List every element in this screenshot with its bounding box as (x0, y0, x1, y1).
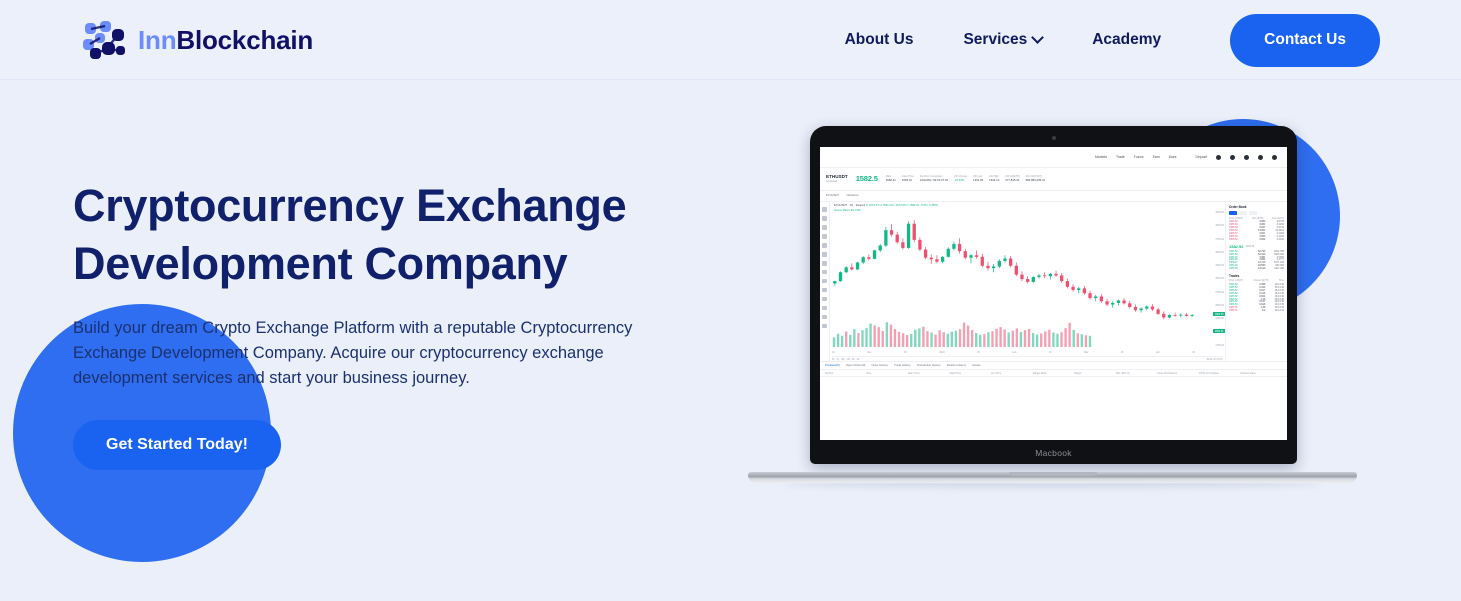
y-tick: 2500.00 (1195, 304, 1224, 307)
volume-series (832, 321, 1092, 347)
x-tick: Apr (1156, 351, 1160, 354)
stat-value: 1431.05 (973, 179, 983, 182)
crosshair-icon[interactable] (822, 207, 827, 212)
orderbook-mid-price: 1582.92 1583.43 (1229, 244, 1284, 249)
row-sum: 4.0916 (1265, 239, 1284, 242)
interval-option[interactable]: 1d (856, 358, 859, 361)
row-sum: 1107.306 (1265, 268, 1284, 271)
contact-us-button[interactable]: Contact Us (1230, 14, 1380, 67)
stat-value: 477,835.42 (1005, 179, 1019, 182)
table-column-header: Liq. Price (991, 372, 1033, 375)
interval-option[interactable]: 5y (832, 358, 835, 361)
orderbook-mode-asks[interactable] (1249, 211, 1257, 215)
trades-list: 1583.52 0.356 18:13:46 1583.52 0.413 18:… (1229, 284, 1284, 313)
chart-legend-ohlc: O 1576.57 H 1591.00 L 1574.00 C 1582.51 … (866, 203, 938, 207)
forecast-icon[interactable] (822, 261, 827, 266)
trash-icon[interactable] (822, 324, 827, 329)
x-tick: Dec (867, 351, 871, 354)
nav-label: About Us (845, 31, 914, 49)
ticker-price: 1582.5 (856, 174, 878, 183)
lock-icon[interactable] (822, 306, 827, 311)
ticker-stat: Index Price1583.16 (902, 175, 914, 182)
laptop-brand-label: Macbook (810, 448, 1297, 458)
orderbook-row[interactable]: 1583.52 3.602 4.0916 (1229, 239, 1284, 242)
y-tick: 3500.00 (1195, 251, 1224, 254)
nav-item-academy[interactable]: Academy (1067, 31, 1186, 49)
eye-icon[interactable] (822, 315, 827, 320)
orderbook-mode-all[interactable] (1229, 211, 1237, 215)
platform-nav-more[interactable]: More (1169, 155, 1177, 159)
hero-title-line-2: Development Company (73, 238, 567, 289)
orderbook-title: Order Book (1229, 205, 1284, 209)
price-chart[interactable]: ETHUSDT · 1D · Zaqus3 O 1576.57 H 1591.0… (830, 202, 1225, 361)
platform-nav-trade[interactable]: Trade (1116, 155, 1125, 159)
x-tick: Mar (1084, 351, 1088, 354)
orderbook-bids: 1583.51 32.793 3931.786 1583.50 52.103 3… (1229, 251, 1284, 271)
table-column-header: Mark Price (950, 372, 992, 375)
nav-item-about-us[interactable]: About Us (820, 31, 939, 49)
bottom-tab[interactable]: Open Orders(0) (846, 364, 866, 367)
y-tick: 1750.00 (1195, 344, 1224, 347)
platform-nav-future[interactable]: Future (1134, 155, 1144, 159)
hero-section: Cryptocurrency Exchange Development Comp… (0, 81, 1461, 592)
platform-body: ETHUSDT · 1D · Zaqus3 O 1576.57 H 1591.0… (820, 202, 1287, 361)
table-column-header: Margin Ratio (1033, 372, 1075, 375)
x-tick: 15 (1121, 351, 1124, 354)
landing-page: InnBlockchain About Us Services Academy … (0, 0, 1461, 601)
stat-value: -24.63% (954, 179, 967, 182)
orderbook-panel: Order Book Price (USDT) Size (ETH) Sum (… (1225, 202, 1287, 361)
stat-value: 1632.10 (989, 179, 999, 182)
trade-time: 18:13:44 (1265, 310, 1284, 313)
y-tick: 4250.00 (1195, 211, 1224, 214)
nav-item-services[interactable]: Services (938, 31, 1067, 49)
chart-search-input[interactable]: ETHUSDT (826, 194, 839, 197)
laptop-base (748, 472, 1357, 483)
table-column-header: Size (867, 372, 909, 375)
y-tick: 4000.00 (1195, 224, 1224, 227)
row-price: 1583.52 (1229, 239, 1249, 242)
x-tick: 15 (1192, 351, 1195, 354)
ticker-stat: Mark1582.41 (886, 175, 896, 182)
ticker-stat: 24h Change-24.63% (954, 175, 967, 182)
interval-option[interactable]: 5d (852, 358, 855, 361)
magnet-icon[interactable] (822, 297, 827, 302)
y-tick: 3000.00 (1195, 277, 1224, 280)
chart-legend: ETHUSDT · 1D · Zaqus3 O 1576.57 H 1591.0… (834, 204, 938, 207)
page-title: Cryptocurrency Exchange Development Comp… (73, 177, 733, 293)
stat-value: 1582.41 (886, 179, 896, 182)
user-icon[interactable] (1216, 155, 1221, 160)
candlestick-series (832, 212, 1195, 319)
text-icon[interactable] (822, 243, 827, 248)
interval-option[interactable]: 1M (846, 358, 849, 361)
briefcase-icon[interactable] (1230, 155, 1235, 160)
hero-copy: Cryptocurrency Exchange Development Comp… (73, 177, 733, 470)
orderbook-view-modes[interactable] (1229, 211, 1284, 215)
table-column-header: TP/SL For Position (1199, 372, 1241, 375)
main-navigation: About Us Services Academy Contact Us (820, 0, 1380, 80)
x-tick: 10 (832, 351, 835, 354)
ticker-stat: 24h Vol(ETH)477,835.42 (1005, 175, 1019, 182)
chart-indicators-button[interactable]: Indicators (846, 194, 858, 197)
chart-legend-symbol: ETHUSDT · 1D · Zaqus3 (834, 203, 865, 207)
ticker-stat: Funding / Countdown0.0100% / 04:01:27:03 (920, 175, 948, 182)
ticker-type: perpetual (826, 180, 848, 183)
zoom-icon[interactable] (822, 288, 827, 293)
y-tick: 3750.00 (1195, 238, 1224, 241)
trades-title: Trades (1229, 274, 1284, 278)
ruler-icon[interactable] (822, 279, 827, 284)
table-column-header: PNL (ROI %) (1116, 372, 1158, 375)
y-tick: 2250.00 (1195, 317, 1224, 320)
bottom-tab[interactable]: Assets (972, 364, 980, 367)
close-icon[interactable] (1272, 155, 1277, 160)
moon-icon[interactable] (1258, 155, 1263, 160)
site-header: InnBlockchain About Us Services Academy … (0, 0, 1461, 80)
x-tick: 15 (904, 351, 907, 354)
fib-icon[interactable] (822, 234, 827, 239)
trade-price: 1583.51 (1229, 310, 1249, 313)
platform-nav-deposit[interactable]: Deposit (1196, 155, 1208, 159)
current-price-tag: 1582.50 (1213, 312, 1225, 316)
hero-title-line-1: Cryptocurrency Exchange (73, 180, 626, 231)
stat-value: 684,884,206.41 (1026, 179, 1045, 182)
orderbook-row[interactable]: 1583.45 13.123 1107.306 (1229, 268, 1284, 271)
trade-amount: 8.2 (1249, 310, 1266, 313)
last-price-tag: 1582.51 (1213, 329, 1225, 333)
interval-option[interactable]: 3M (841, 358, 844, 361)
stat-value: 0.0100% / 04:01:27:03 (920, 179, 948, 182)
y-tick: 3250.00 (1195, 264, 1224, 267)
globe-icon[interactable] (1244, 155, 1249, 160)
bottom-tab[interactable]: Transaction History (917, 364, 941, 367)
bottom-tab[interactable]: Trade History (894, 364, 911, 367)
platform-bottom-tabs: Positions(0)Open Orders(0)Order HistoryT… (820, 361, 1287, 369)
laptop-mockup: Markets Trade Future Earn More Deposit (748, 126, 1357, 491)
network-nodes-icon (83, 20, 127, 60)
platform-ticker-bar: ETHUSDT perpetual 1582.5 Mark1582.41 Ind… (820, 168, 1287, 191)
ticker-stat: 24h High1632.10 (989, 175, 999, 182)
x-tick: Feb (1012, 351, 1016, 354)
chart-tools-rail (820, 202, 830, 361)
ticker-stat: 24h Low1431.05 (973, 175, 983, 182)
trade-row: 1583.51 8.2 18:13:44 (1229, 310, 1284, 313)
time-axis: 10Dec15202315Feb15Mar15Apr15 (832, 351, 1195, 354)
table-column-header: Notional Value (1240, 372, 1282, 375)
get-started-button[interactable]: Get Started Today! (73, 420, 281, 470)
emoji-icon[interactable] (822, 270, 827, 275)
positions-table-header: SymbolSizeEntry PriceMark PriceLiq. Pric… (820, 369, 1287, 377)
platform-topnav: Markets Trade Future Earn More Deposit (820, 147, 1287, 168)
horizontal-line-icon[interactable] (822, 225, 827, 230)
trading-platform-screen: Markets Trade Future Earn More Deposit (820, 147, 1287, 440)
brand-logo[interactable]: InnBlockchain (83, 20, 313, 60)
x-tick: 15 (977, 351, 980, 354)
table-column-header: Symbol (825, 372, 867, 375)
table-column-header: Close All Positions (1157, 372, 1199, 375)
mid-price-value: 1582.92 (1229, 244, 1243, 249)
interval-buttons[interactable]: 5y1y3M1M5d1d (832, 358, 861, 361)
brand-wordmark: InnBlockchain (138, 27, 313, 53)
brand-text-part1: Inn (138, 25, 176, 55)
hero-subtitle: Build your dream Crypto Exchange Platfor… (73, 316, 698, 391)
chart-clock: 04:11:47 (UTC) (1207, 358, 1223, 361)
mid-price-secondary: 1583.43 (1245, 245, 1254, 248)
platform-nav-earn[interactable]: Earn (1153, 155, 1160, 159)
chevron-down-icon (1031, 31, 1044, 44)
row-price: 1583.45 (1229, 268, 1249, 271)
platform-nav-markets[interactable]: Markets (1095, 155, 1107, 159)
table-column-header: Entry Price (908, 372, 950, 375)
pattern-icon[interactable] (822, 252, 827, 257)
nav-label: Academy (1092, 31, 1161, 49)
bottom-tab[interactable]: Position History (947, 364, 966, 367)
laptop-lid: Markets Trade Future Earn More Deposit (810, 126, 1297, 464)
x-tick: 15 (1049, 351, 1052, 354)
y-tick: 2750.00 (1195, 291, 1224, 294)
brand-text-part2: Blockchain (176, 25, 313, 55)
chart-footer: 5y1y3M1M5d1d 04:11:47 (UTC) (832, 356, 1223, 361)
nav-label: Services (963, 31, 1027, 49)
stat-value: 1583.16 (902, 179, 914, 182)
x-tick: 2023 (939, 351, 944, 354)
webcam-icon (1052, 136, 1056, 140)
ticker-stat: 24h Vol(USDT)684,884,206.41 (1026, 175, 1045, 182)
interval-option[interactable]: 1y (837, 358, 840, 361)
orderbook-mode-bids[interactable] (1239, 211, 1247, 215)
trendline-icon[interactable] (822, 216, 827, 221)
row-size: 3.602 (1249, 239, 1266, 242)
chart-toolbar: ETHUSDT Indicators (820, 191, 1287, 202)
ticker-stats: Mark1582.41 Index Price1583.16 Funding /… (886, 175, 1281, 182)
bottom-tab[interactable]: Order History (871, 364, 888, 367)
table-column-header: Margin (1074, 372, 1116, 375)
price-axis: 4250.004000.003750.003500.003250.003000.… (1195, 211, 1225, 347)
row-size: 13.123 (1249, 268, 1266, 271)
orderbook-asks: 1583.62 3.083 3.0734 1583.60 3.081 3.129… (1229, 221, 1284, 241)
bottom-tab[interactable]: Positions(0) (825, 364, 840, 367)
